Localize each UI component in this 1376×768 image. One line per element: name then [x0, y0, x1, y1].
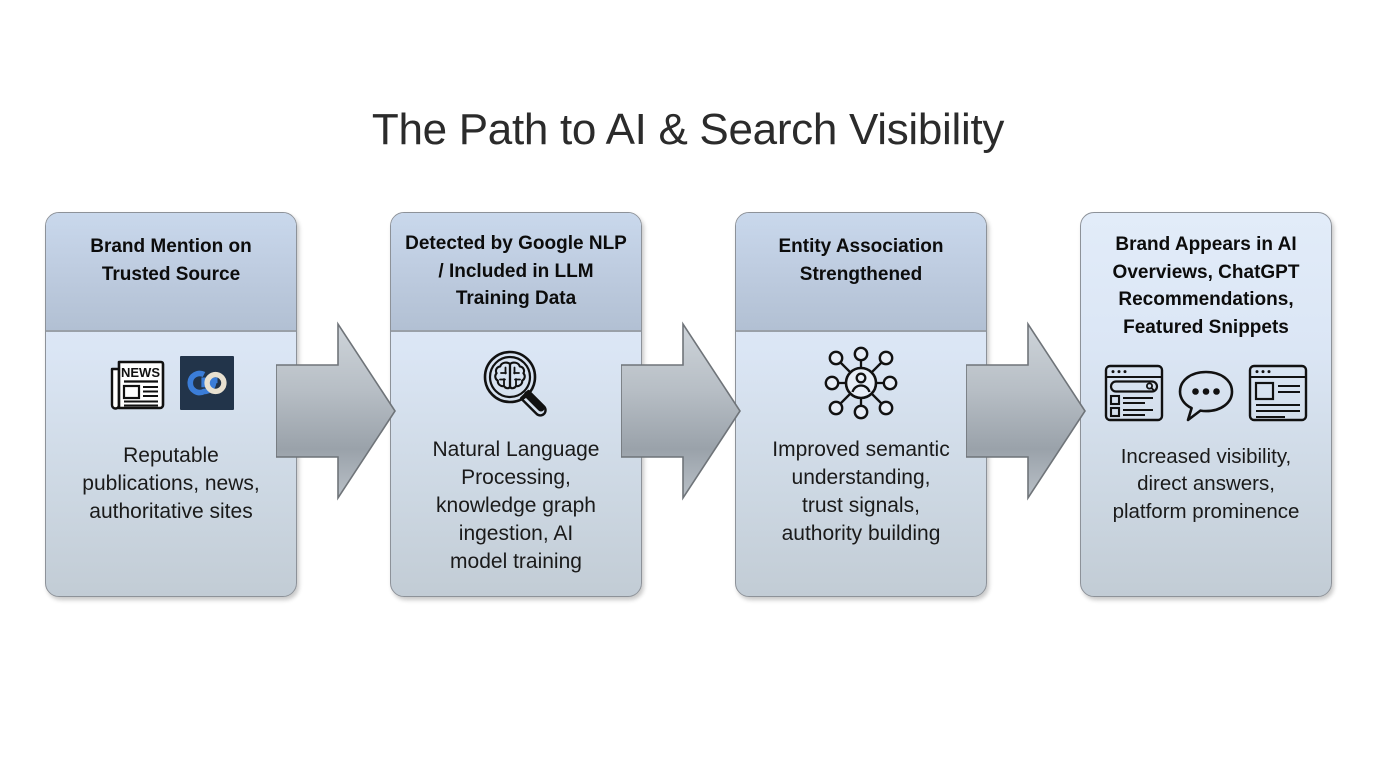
step-4-icon-row — [1091, 351, 1321, 435]
chat-bubble-icon — [1175, 362, 1237, 424]
step-1-header: Brand Mention on Trusted Source — [46, 213, 296, 332]
step-2-description: Natural Language Processing, knowledge g… — [401, 436, 631, 576]
diagram-canvas: The Path to AI & Search Visibility Brand… — [0, 0, 1376, 768]
go-logo-icon — [180, 356, 234, 410]
step-3-body: Improved semantic understanding, trust s… — [736, 338, 986, 548]
step-3-header: Entity Association Strengthened — [736, 213, 986, 332]
flow-arrow-1 — [276, 318, 396, 504]
page-title: The Path to AI & Search Visibility — [0, 105, 1376, 155]
step-1-body: NEWS Reputable publications, news, autho… — [46, 338, 296, 526]
process-step-card-1[interactable]: Brand Mention on Trusted Source NEWS — [45, 212, 297, 597]
process-step-card-4[interactable]: Brand Appears in AI Overviews, ChatGPT R… — [1080, 212, 1332, 597]
step-1-icon-row: NEWS — [56, 338, 286, 428]
network-hub-person-icon — [822, 344, 900, 422]
step-2-header: Detected by Google NLP / Included in LLM… — [391, 213, 641, 332]
svg-text:NEWS: NEWS — [121, 365, 160, 380]
step-1-description: Reputable publications, news, authoritat… — [56, 442, 286, 526]
search-results-window-icon — [1103, 362, 1165, 424]
step-3-description: Improved semantic understanding, trust s… — [746, 436, 976, 548]
process-step-card-3[interactable]: Entity Association Strengthened — [735, 212, 987, 597]
step-3-icon-row — [746, 338, 976, 428]
flow-arrow-2 — [621, 318, 741, 504]
flow-arrow-3 — [966, 318, 1086, 504]
step-4-description: Increased visibility, direct answers, pl… — [1091, 443, 1321, 525]
magnifier-brain-icon — [479, 346, 553, 420]
process-step-card-2[interactable]: Detected by Google NLP / Included in LLM… — [390, 212, 642, 597]
step-2-body: Natural Language Processing, knowledge g… — [391, 338, 641, 576]
newspaper-icon: NEWS — [108, 356, 166, 410]
step-4-body: Increased visibility, direct answers, pl… — [1081, 351, 1331, 525]
step-4-header: Brand Appears in AI Overviews, ChatGPT R… — [1081, 213, 1331, 349]
step-2-icon-row — [401, 338, 631, 428]
article-window-icon — [1247, 362, 1309, 424]
